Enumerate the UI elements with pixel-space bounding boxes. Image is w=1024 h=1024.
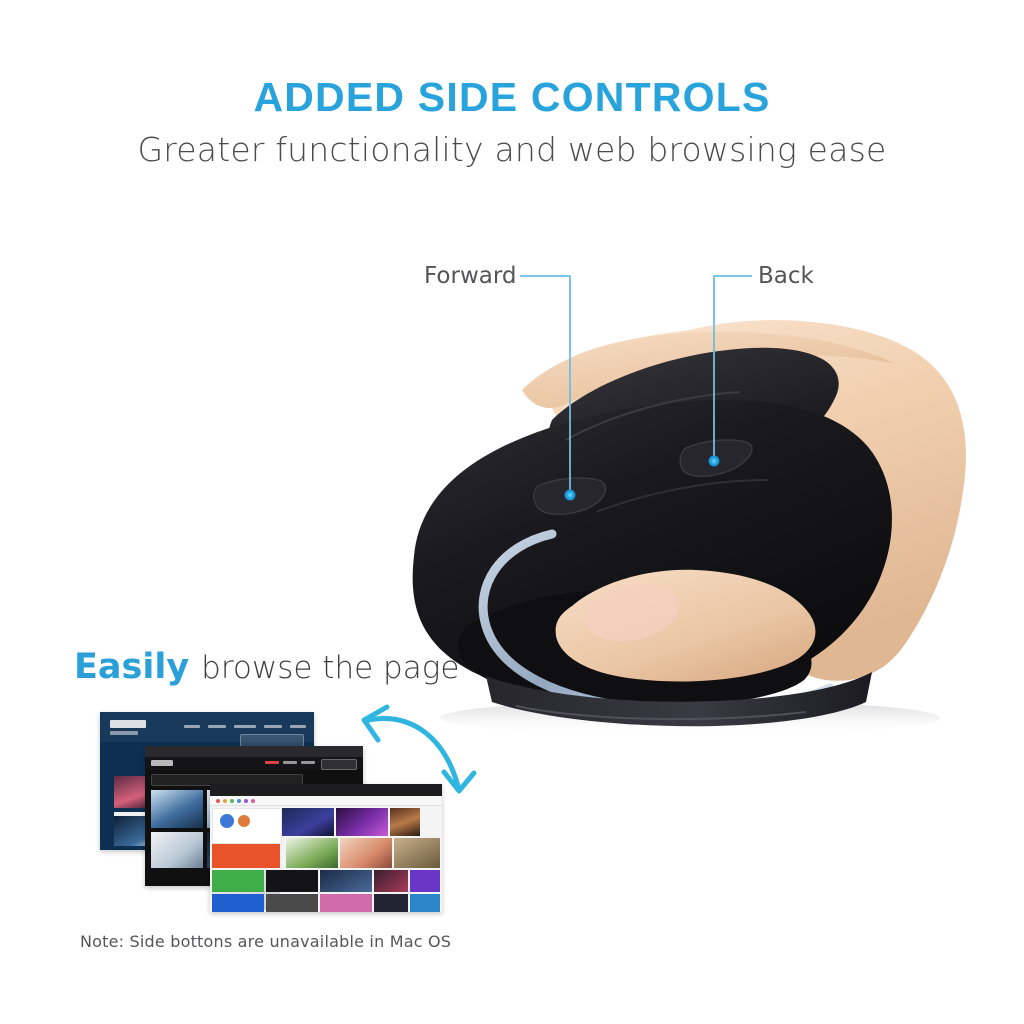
feature-tagline-emphasis: Easily [74,647,189,687]
callout-label-forward: Forward [424,263,517,289]
front-window-gallery-tile[interactable] [410,894,440,912]
front-window-gallery-tile[interactable] [212,870,264,892]
mid-window-titlebar [145,746,363,757]
back-window-nav-item[interactable] [264,725,282,728]
front-window-gallery-tile[interactable] [394,838,440,868]
front-window-gallery-tile[interactable] [336,808,388,836]
mid-window-nav-item[interactable] [301,761,315,764]
feature-tagline: Easilybrowse the page [74,647,459,687]
mid-window-nav-item[interactable] [283,761,297,764]
front-window-gallery-tile[interactable] [410,870,440,892]
product-feature-poster: ADDED SIDE CONTROLS Greater functionalit… [0,0,1024,1024]
front-window-tab-dot[interactable] [237,799,241,803]
front-window-gallery-tile[interactable] [340,838,392,868]
front-window-titlebar [210,784,442,796]
mid-window-logo [151,760,173,766]
front-window-gallery-tile[interactable] [266,870,318,892]
front-window-avatar[interactable] [220,814,234,828]
front-window-gallery-tile[interactable] [320,894,372,912]
front-window-gallery-tile[interactable] [374,870,408,892]
feature-tagline-rest: browse the page [201,650,459,686]
back-window-nav-item[interactable] [184,725,200,728]
front-window-tab-dot[interactable] [244,799,248,803]
compatibility-note: Note: Side bottons are unavailable in Ma… [80,932,451,951]
back-window-logo-sub [110,731,138,735]
front-window-gallery-tile[interactable] [212,894,264,912]
front-window-banner[interactable] [212,844,280,868]
front-window-gallery-tile[interactable] [374,894,408,912]
front-window-tab-dot[interactable] [223,799,227,803]
mid-window-search-input[interactable] [321,759,357,770]
front-window-gallery-tile[interactable] [286,838,338,868]
callout-label-back: Back [758,263,814,289]
back-window-nav-item[interactable] [208,725,226,728]
front-window-tab-dot[interactable] [230,799,234,803]
front-window-tab-dot[interactable] [216,799,220,803]
front-window-avatar[interactable] [238,815,250,827]
back-window-logo [110,720,146,728]
front-window-gallery-tile[interactable] [266,894,318,912]
mid-window-nav-item[interactable] [265,761,279,764]
front-window-gallery-tile[interactable] [282,808,334,836]
mid-window-thumbnail[interactable] [151,832,203,868]
front-window-gallery-tile[interactable] [320,870,372,892]
back-window-nav-item[interactable] [234,725,256,728]
front-window-tab-dot[interactable] [251,799,255,803]
browser-window-front[interactable] [210,784,442,912]
mid-window-thumbnail[interactable] [151,790,203,828]
front-window-gallery-tile[interactable] [390,808,420,836]
back-window-nav-item[interactable] [290,725,306,728]
